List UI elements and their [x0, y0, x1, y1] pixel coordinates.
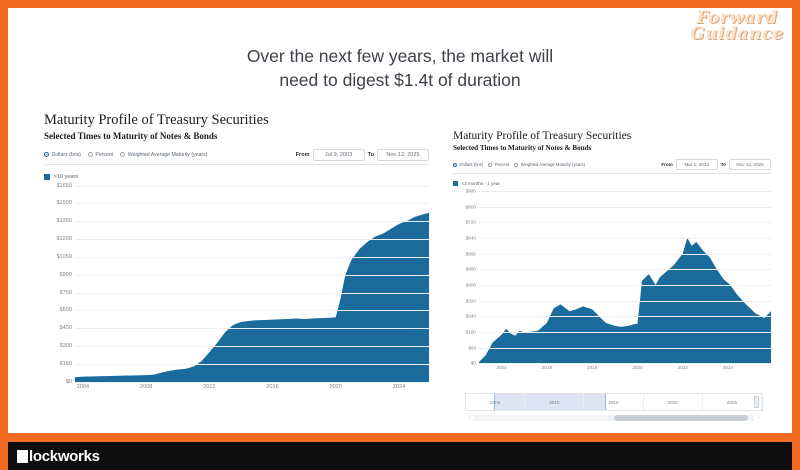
x-axis-tick-label: 2008 [140, 384, 152, 390]
gridline [75, 221, 429, 222]
forward-guidance-watermark: Forward Guidance [690, 10, 784, 43]
right-radio-wam[interactable]: Weighted Average Maturity (years) [514, 162, 585, 167]
left-chart-unit-radiogroup[interactable]: Dollars (bns) Percent Weighted Average M… [44, 152, 207, 158]
logo-block-icon [17, 450, 28, 463]
radio-selected-icon [453, 163, 457, 167]
y-axis-tick-label: $150 [60, 361, 75, 367]
gridline [75, 203, 429, 204]
scroll-thumb[interactable] [614, 415, 748, 421]
radio-empty-icon [514, 163, 518, 167]
gridline [479, 207, 771, 208]
right-from-label: From [661, 162, 672, 167]
slide-headline: Over the next few years, the market will… [8, 44, 792, 92]
y-axis-tick-label: $640 [466, 236, 479, 241]
left-to-label: To [368, 152, 374, 158]
gridline [75, 293, 429, 294]
watermark-line-2: Guidance [690, 26, 784, 43]
right-chart-range-selector[interactable]: 2005 2010 2015 2020 2025 [465, 393, 763, 411]
right-radio-dollars[interactable]: Dollars (bns) [453, 162, 483, 167]
y-axis-tick-label: $160 [466, 329, 479, 334]
y-axis-tick-label: $240 [466, 314, 479, 319]
left-chart-date-range: From Jul 9, 2003 To Nov 12, 2025 [296, 149, 429, 161]
gridline [75, 346, 429, 347]
right-chart-area-series [479, 191, 771, 363]
gridline [479, 222, 771, 223]
headline-line-1: Over the next few years, the market will [8, 44, 792, 68]
y-axis-tick-label: $1350 [56, 218, 75, 224]
gridline [479, 285, 771, 286]
gridline [479, 269, 771, 270]
y-axis-tick-label: $900 [60, 272, 75, 278]
gridline [479, 348, 771, 349]
y-axis-tick-label: $880 [466, 189, 479, 194]
right-from-input[interactable]: Mar 1, 2013 [676, 159, 718, 170]
legend-swatch-icon [453, 181, 458, 186]
left-radio-percent-label: Percent [95, 152, 113, 158]
right-chart-unit-radiogroup[interactable]: Dollars (bns) Percent Weighted Average M… [453, 162, 585, 167]
x-axis-tick-label: 2018 [587, 365, 597, 370]
x-axis-tick-label: 2024 [723, 365, 733, 370]
gridline [75, 328, 429, 329]
left-chart-widget: Maturity Profile of Treasury Securities … [44, 112, 429, 422]
x-axis-tick-label: 2024 [393, 384, 405, 390]
right-chart-title: Maturity Profile of Treasury Securities [453, 130, 771, 143]
left-from-label: From [296, 152, 310, 158]
y-axis-tick-label: $750 [60, 290, 75, 296]
y-axis-tick-label: $1200 [56, 236, 75, 242]
gridline [479, 301, 771, 302]
left-chart-subtitle: Selected Times to Maturity of Notes & Bo… [44, 131, 429, 141]
gridline [75, 239, 429, 240]
y-axis-tick-label: $80 [468, 345, 479, 350]
y-axis-tick-label: $560 [466, 251, 479, 256]
left-radio-wam-label: Weighted Average Maturity (years) [128, 152, 208, 158]
slide-footer: lockworks [8, 442, 792, 470]
x-axis-tick-label: 2016 [542, 365, 552, 370]
y-axis-tick-label: $800 [466, 204, 479, 209]
y-axis-tick-label: $300 [60, 343, 75, 349]
headline-line-2: need to digest $1.4t of duration [8, 68, 792, 92]
radio-empty-icon [120, 152, 125, 157]
gridline [75, 364, 429, 365]
x-axis-tick-label: 2020 [632, 365, 642, 370]
left-from-input[interactable]: Jul 9, 2003 [313, 149, 365, 161]
y-axis-tick-label: $0 [471, 361, 479, 366]
y-axis-tick-label: $1500 [56, 200, 75, 206]
right-to-input[interactable]: Nov 12, 2025 [729, 159, 771, 170]
slide-canvas: Forward Guidance Over the next few years… [8, 8, 792, 433]
gridline [75, 257, 429, 258]
y-axis-tick-label: $1050 [56, 254, 75, 260]
right-to-label: To [721, 162, 726, 167]
x-axis-tick-label: 2012 [203, 384, 215, 390]
right-radio-wam-label: Weighted Average Maturity (years) [521, 162, 585, 167]
left-legend-label: >10 years [54, 174, 79, 180]
gridline [479, 191, 771, 192]
right-legend-label: <3 months - 1 year [462, 181, 500, 186]
left-radio-percent[interactable]: Percent [88, 152, 113, 158]
range-tick[interactable]: 2015 [584, 394, 643, 410]
left-chart-controls: Dollars (bns) Percent Weighted Average M… [44, 149, 429, 165]
blockworks-logo: lockworks [17, 448, 100, 465]
gridline [75, 275, 429, 276]
y-axis-tick-label: $480 [466, 267, 479, 272]
right-chart-controls: Dollars (bns) Percent Weighted Average M… [453, 159, 771, 174]
radio-empty-icon [488, 163, 492, 167]
range-tick[interactable]: 2010 [525, 394, 584, 410]
logo-text: lockworks [29, 448, 100, 465]
gridline [479, 238, 771, 239]
y-axis-tick-label: $600 [60, 307, 75, 313]
range-drag-handle[interactable] [754, 396, 759, 408]
left-chart-x-axis: 200420082012201620202024 [75, 382, 429, 396]
left-chart-area-series [75, 186, 429, 382]
scroll-left-arrow-icon[interactable]: ‹ [465, 415, 474, 420]
left-radio-wam[interactable]: Weighted Average Maturity (years) [120, 152, 207, 158]
range-tick[interactable]: 2005 [466, 394, 525, 410]
right-chart-subtitle: Selected Times to Maturity of Notes & Bo… [453, 144, 771, 152]
gridline [479, 316, 771, 317]
right-chart-legend[interactable]: <3 months - 1 year [453, 181, 771, 186]
left-radio-dollars-label: Dollars (bns) [52, 152, 81, 158]
right-chart-x-axis: 201420162018202020222024 [479, 363, 771, 375]
right-radio-dollars-label: Dollars (bns) [460, 162, 484, 167]
y-axis-tick-label: $400 [466, 283, 479, 288]
left-chart-plot: $0$150$300$450$600$750$900$1050$1200$135… [75, 186, 429, 382]
scroll-track[interactable] [474, 415, 754, 421]
right-chart-plot: $0$80$160$240$320$400$480$560$640$720$80… [479, 191, 771, 363]
gridline [479, 254, 771, 255]
right-chart-scrollbar[interactable]: ‹ › [465, 413, 763, 422]
radio-empty-icon [88, 152, 93, 157]
x-axis-tick-label: 2020 [330, 384, 342, 390]
gridline [75, 186, 429, 187]
y-axis-tick-label: $1650 [56, 183, 75, 189]
left-chart-legend[interactable]: >10 years [44, 174, 429, 180]
slide-frame: Forward Guidance Over the next few years… [0, 0, 800, 470]
y-axis-tick-label: $720 [466, 220, 479, 225]
gridline [479, 332, 771, 333]
left-to-input[interactable]: Nov 12, 2025 [377, 149, 429, 161]
right-chart-widget: Maturity Profile of Treasury Securities … [453, 130, 771, 420]
y-axis-tick-label: $450 [60, 325, 75, 331]
range-tick[interactable]: 2020 [644, 394, 703, 410]
x-axis-tick-label: 2016 [266, 384, 278, 390]
legend-swatch-icon [44, 174, 50, 180]
scroll-right-arrow-icon[interactable]: › [754, 415, 763, 420]
right-radio-percent-label: Percent [495, 162, 509, 167]
x-axis-tick-label: 2022 [678, 365, 688, 370]
gridline [75, 310, 429, 311]
radio-selected-icon [44, 152, 49, 157]
right-chart-date-range: From Mar 1, 2013 To Nov 12, 2025 [661, 159, 771, 170]
left-chart-title: Maturity Profile of Treasury Securities [44, 112, 429, 129]
x-axis-tick-label: 2014 [497, 365, 507, 370]
right-radio-percent[interactable]: Percent [488, 162, 509, 167]
y-axis-tick-label: $320 [466, 298, 479, 303]
x-axis-tick-label: 2004 [77, 384, 89, 390]
y-axis-tick-label: $0 [66, 379, 75, 385]
watermark-line-1: Forward [690, 10, 784, 27]
left-radio-dollars[interactable]: Dollars (bns) [44, 152, 81, 158]
